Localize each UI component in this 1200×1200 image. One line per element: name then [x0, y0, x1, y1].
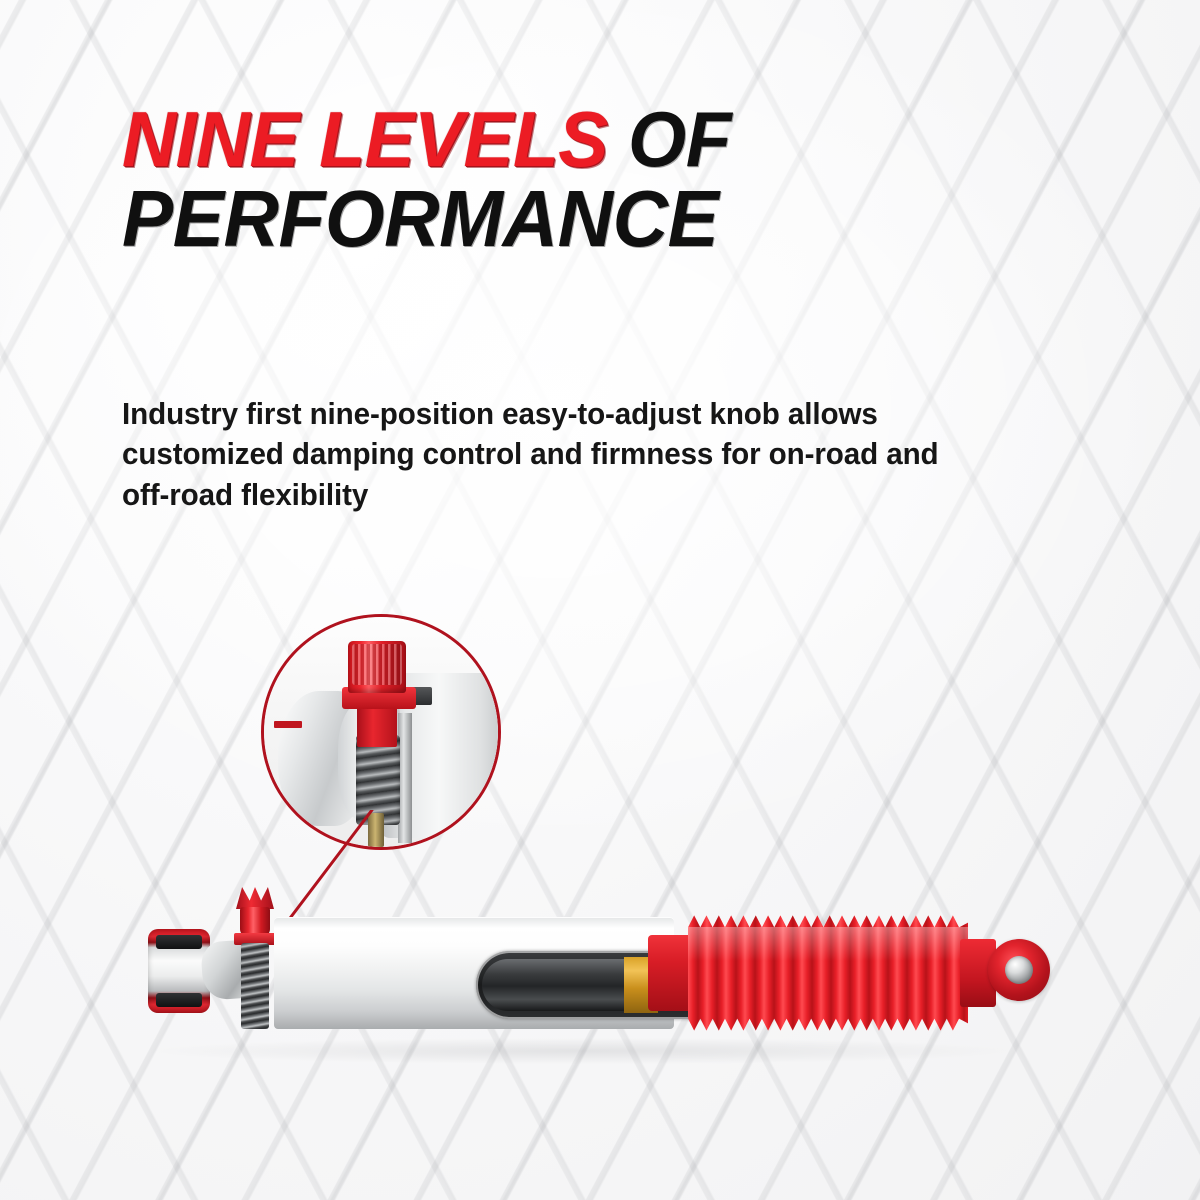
callout-valve-shaft [368, 813, 384, 847]
headline-of-word: OF [628, 95, 731, 183]
headline-line-2: PERFORMANCE [122, 182, 1024, 256]
callout-knob-stem [357, 705, 397, 747]
feature-description: Industry first nine-position easy-to-adj… [122, 394, 976, 516]
callout-inner-scene [264, 617, 498, 847]
shock-absorber-assembly [148, 905, 1028, 1045]
shock-body-tube [274, 917, 674, 1029]
boot-pleats [688, 913, 968, 1033]
headline-performance-word: PERFORMANCE [122, 174, 718, 263]
left-bushing-eyelet [148, 929, 210, 1013]
callout-side-rod [398, 713, 412, 843]
right-eyelet [988, 939, 1050, 1001]
right-eyelet-bushing [1005, 956, 1033, 984]
headline-block: NINE LEVELS OF PERFORMANCE [122, 104, 1062, 255]
callout-knob-ribs [352, 644, 402, 685]
red-accordion-boot [648, 913, 1000, 1033]
knob-crown-icon [236, 887, 274, 909]
inner-pressure-tube [482, 959, 632, 1011]
callout-coil-spring-icon [356, 735, 400, 825]
callout-pointer-tick [274, 721, 302, 728]
adjuster-coil-spring [241, 943, 269, 1029]
left-bushing-sleeve-bottom [156, 993, 202, 1007]
knob-cutaway-callout [261, 614, 501, 850]
product-feature-banner: NINE LEVELS OF PERFORMANCE Industry firs… [0, 0, 1200, 1200]
headline-red-words: NINE LEVELS [122, 95, 608, 183]
callout-adjuster-knob [348, 641, 406, 693]
left-bushing-sleeve-top [156, 935, 202, 949]
headline-line-1: NINE LEVELS OF [122, 104, 1024, 176]
